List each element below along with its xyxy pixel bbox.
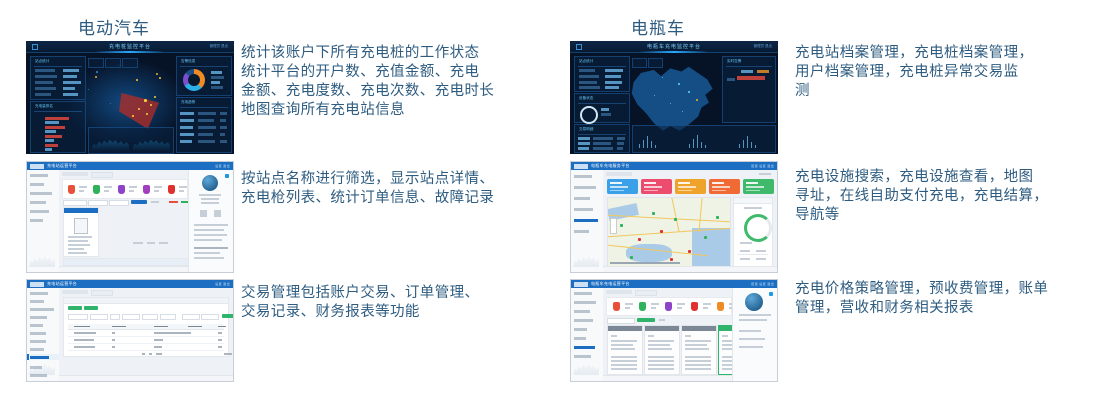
description-ev-trade: 交易管理包括账户交易、订单管理、 交易记录、财务报表等功能 [241,284,551,322]
description-bike-monitor: 充电站档案管理，充电桩档案管理， 用户档案管理，充电桩异常交易监 测 [795,44,1105,101]
map-pin[interactable] [630,256,633,259]
map-pin[interactable] [716,216,719,219]
kpi-card-3[interactable] [675,179,706,194]
panel-transaction-list[interactable]: 充电趋势 [176,97,232,153]
column-header-2 [154,326,168,328]
notification-badge[interactable] [769,292,773,296]
stat-summary-row [606,297,732,316]
header-account[interactable]: 管理员 退出 [754,44,772,49]
filter-input-2[interactable] [90,314,108,320]
filter-input-1[interactable] [63,200,87,206]
panel-charge-rank[interactable]: 充电量排名 [30,101,86,153]
stat-icon-5 [168,185,175,194]
filter-tab-3[interactable] [122,58,138,68]
description-ev-station: 按站点名称进行筛选，显示站点详情、 充电枪列表、统计订单信息、故障记录 [241,170,551,208]
breadcrumb [606,290,632,294]
sidebar-item-5[interactable] [30,210,49,213]
sidebar-item-4[interactable] [574,208,593,211]
breadcrumb [606,172,632,176]
description-bike-map: 充电设施搜索，充电设施查看，地图 寻址，在线自助支付充电，充电结算， 导航等 [795,168,1105,225]
sidebar-item-2[interactable] [30,300,44,303]
screenshot-bike-price[interactable]: 电瓶车充电运营平台 配置 设置 退出 [570,279,778,382]
stat-icon-1 [613,302,620,311]
price-card-1[interactable] [607,325,643,375]
sidebar-item-7[interactable] [30,340,46,343]
panel-divider [578,66,626,67]
action-icon-1[interactable] [200,210,207,217]
app-header: 电瓶车充电服务平台 配置 设置 退出 [571,162,777,170]
sidebar-watermark [573,359,599,375]
sidebar-item-1[interactable] [574,175,592,178]
map-pin[interactable] [620,224,623,227]
sidebar-item-selected[interactable] [574,219,598,222]
station-detail-card[interactable] [63,207,99,257]
column-heading-e-bike: 电瓶车 [631,14,685,39]
import-button[interactable] [84,306,98,310]
avatar[interactable] [745,293,763,311]
card-header [645,326,679,331]
screenshot-bike-monitor[interactable]: 电瓶车充电监控平台 管理员 退出 站点统计 设备状态 [570,41,778,154]
screenshot-ev-monitor[interactable]: 充电桩监控平台 管理员 退出 站点统计 充电量排名 [26,41,234,154]
sidebar-item-5[interactable] [574,230,589,233]
panel-title: 设备状态 [579,96,593,101]
stat-icon-5 [717,302,724,311]
stat-icon-3 [665,302,672,311]
panel-title: 站点统计 [35,59,49,64]
column-header-1 [112,326,126,328]
filter-tab-2[interactable] [648,58,663,68]
sidebar [27,170,60,272]
progress-donut [744,214,772,242]
light-price-app: 电瓶车充电运营平台 配置 设置 退出 [571,280,777,381]
panel-bar-charts[interactable] [632,125,776,153]
notification-badge[interactable] [225,174,229,178]
app-brand: 电瓶车充电运营平台 [591,281,630,287]
search-button[interactable] [131,200,147,204]
tab-active[interactable] [91,290,113,296]
right-rail [732,288,777,381]
stat-icon-3 [118,185,125,194]
map-pin[interactable] [670,258,673,261]
filter-tab-2[interactable] [105,58,121,68]
trade-panel [63,297,229,357]
panel-realtime-alarm[interactable]: 实时告警 [722,56,776,123]
map-pin[interactable] [688,250,691,253]
panel-trend-left[interactable] [88,127,174,154]
sidebar-item-4[interactable] [30,316,47,319]
date-to-input[interactable] [201,314,219,320]
panel-divider [578,134,626,135]
panel-divider [180,66,228,67]
panel-title: 站点统计 [579,59,593,64]
kpi-card-1[interactable] [607,179,638,194]
dark-dashboard: 充电桩监控平台 管理员 退出 站点统计 充电量排名 [26,41,234,154]
app-brand: 充电站运营平台 [47,281,77,287]
map-pin[interactable] [660,230,663,233]
avatar[interactable] [202,175,218,191]
kpi-card-4[interactable] [709,179,740,194]
description-ev-monitor: 统计该账户下所有充电桩的工作状态 统计平台的开户数、充值金额、充电 金额、充电度… [241,44,551,120]
panel-station-stats[interactable]: 站点统计 [574,56,630,92]
sidebar-item-6[interactable] [30,332,46,335]
card-title-bar [734,198,772,204]
screenshot-ev-trade[interactable]: 充电站运营平台 设置 退出 [26,279,234,382]
stat-summary-row [62,179,188,199]
sidebar-item-5[interactable] [574,328,587,331]
footer [603,266,777,272]
menu-icon[interactable] [32,44,38,50]
column-header-3 [188,326,202,328]
map-attribution [610,262,680,264]
light-cards-map-app: 电瓶车充电服务平台 配置 设置 退出 [571,162,777,272]
footer [59,375,233,381]
sidebar-item-6[interactable] [30,219,43,222]
map-zoom-control[interactable] [610,218,617,234]
map-pin[interactable] [674,218,677,221]
sidebar-item-6[interactable] [574,337,586,340]
device-thumbnail [74,218,88,234]
sidebar [571,288,604,381]
sidebar [27,288,60,381]
app-logo [30,164,44,169]
filter-input-5[interactable] [160,314,176,320]
panel-title: 充电量排名 [35,104,53,109]
sidebar-item-4[interactable] [574,319,593,322]
filter-input-4[interactable] [142,314,158,320]
panel-title: 交易明细 [579,127,593,132]
breadcrumb [62,172,88,176]
price-card-2[interactable] [644,325,680,375]
date-from-input[interactable] [182,314,200,320]
sidebar-item-5[interactable] [30,324,43,327]
stat-icon-2 [93,185,100,194]
toolbar-actions[interactable] [759,173,771,175]
table-title-bar [608,381,772,382]
filter-tab-1[interactable] [632,58,647,68]
table-header-row [68,324,224,330]
status-ring-chart [580,106,598,124]
column-header-0 [74,326,90,328]
header-actions[interactable]: 设置 退出 [215,282,230,286]
export-button[interactable] [68,306,82,310]
sidebar-item-3[interactable] [574,310,590,313]
light-admin-app: 充电站运营平台 设置 退出 [27,162,233,272]
sidebar-item-1[interactable] [30,292,48,295]
action-icon-2[interactable] [214,210,221,217]
tab-active[interactable] [91,172,113,178]
screenshot-ev-station[interactable]: 充电站运营平台 设置 退出 [26,161,234,273]
menu-icon[interactable] [576,44,582,50]
header-actions[interactable]: 配置 设置 退出 [751,282,774,286]
filter-input-3[interactable] [122,314,140,320]
right-rail [188,170,233,272]
panel-device-status[interactable]: 告警信息 [176,56,232,96]
filter-input-1[interactable] [607,318,635,324]
kpi-card-5[interactable] [743,179,774,194]
column-ev-car: 电动汽车 充电桩监控平台 管理员 退出 [0,0,559,406]
panel-station-stats[interactable]: 站点统计 [30,56,86,100]
map-pin[interactable] [638,238,641,241]
app-logo [574,282,588,287]
sidebar-item-2[interactable] [574,301,596,304]
panel-device-status[interactable]: 设备状态 [574,93,630,123]
sidebar-item-2[interactable] [574,186,596,189]
breadcrumb [62,290,88,294]
sidebar-item-3[interactable] [574,197,590,200]
filter-tab-1[interactable] [88,58,104,68]
description-bike-price: 充电价格策略管理，预收费管理，账单 管理，营收和财务相关报表 [795,280,1105,318]
sidebar-item-3[interactable] [30,192,52,195]
sidebar [571,170,604,272]
panel-divider [578,103,626,104]
sidebar-item-selected[interactable] [574,346,595,349]
filter-select-1[interactable] [88,200,108,206]
app-brand: 充电站运营平台 [47,163,77,169]
panel-title: 实时告警 [727,59,741,64]
header-actions[interactable]: 设置 退出 [215,164,230,168]
sidebar-item-7[interactable] [574,355,591,358]
title-underline [95,51,165,53]
map-pin[interactable] [652,212,655,215]
add-strategy-button[interactable] [637,318,655,322]
tab-active[interactable] [635,290,657,296]
dashboard-title: 充电桩监控平台 [109,43,151,50]
panel-divider [180,107,228,108]
sidebar-watermark [573,251,599,267]
panel-transaction-detail[interactable]: 交易明细 [574,124,630,153]
header-account[interactable]: 管理员 退出 [210,44,228,49]
panel-divider [34,66,82,67]
query-button[interactable] [222,314,234,318]
sidebar-watermark [29,251,55,267]
stat-icon-4 [691,302,698,311]
dashboard-title: 电瓶车充电监控平台 [647,43,701,50]
light-table-app: 充电站运营平台 设置 退出 [27,280,233,381]
panel-title: 充电趋势 [181,100,195,105]
stat-icon-2 [639,302,646,311]
card-header [608,326,642,331]
summary-card [733,197,773,267]
sidebar-item-1[interactable] [574,292,592,295]
stat-icon-1 [68,185,75,194]
filter-input-1[interactable] [68,314,88,320]
column-e-bike: 电瓶车 电瓶车充电监控平台 管理员 退出 站点统计 [559,0,1118,406]
sidebar-item-1[interactable] [30,174,48,177]
column-header-4 [218,326,226,328]
panel-title-bar [64,298,228,304]
sidebar-item-selected-label [30,356,49,359]
sidebar-item-2[interactable] [30,183,44,186]
app-header: 电瓶车充电运营平台 配置 设置 退出 [571,280,777,288]
app-logo [30,282,44,287]
filter-select-2[interactable] [109,200,129,206]
app-logo [574,164,588,169]
map-pin[interactable] [704,236,707,239]
title-underline [639,51,709,53]
screenshot-bike-map[interactable]: 电瓶车充电服务平台 配置 设置 退出 [570,161,778,273]
panel-divider [34,111,82,112]
sidebar-item-3[interactable] [30,308,54,311]
content-area [603,170,777,272]
price-card-3[interactable] [681,325,717,375]
app-brand: 电瓶车充电服务平台 [591,163,630,169]
card-header [64,208,98,213]
sidebar-item-4[interactable] [30,201,46,204]
column-heading-ev-car: 电动汽车 [78,14,150,39]
sidebar-item-8[interactable] [30,348,44,351]
filter-select-1[interactable] [110,314,120,320]
app-header: 充电站运营平台 设置 退出 [27,162,233,170]
panel-divider [726,66,772,67]
stat-icon-4 [143,185,150,194]
card-header [682,326,716,331]
dark-dashboard-cn: 电瓶车充电监控平台 管理员 退出 站点统计 设备状态 [570,41,778,154]
header-actions[interactable]: 配置 设置 退出 [751,164,774,168]
panel-title: 告警信息 [181,59,195,64]
app-header: 充电站运营平台 设置 退出 [27,280,233,288]
kpi-card-2[interactable] [641,179,672,194]
location-map[interactable] [607,197,731,267]
content-area [59,288,233,381]
